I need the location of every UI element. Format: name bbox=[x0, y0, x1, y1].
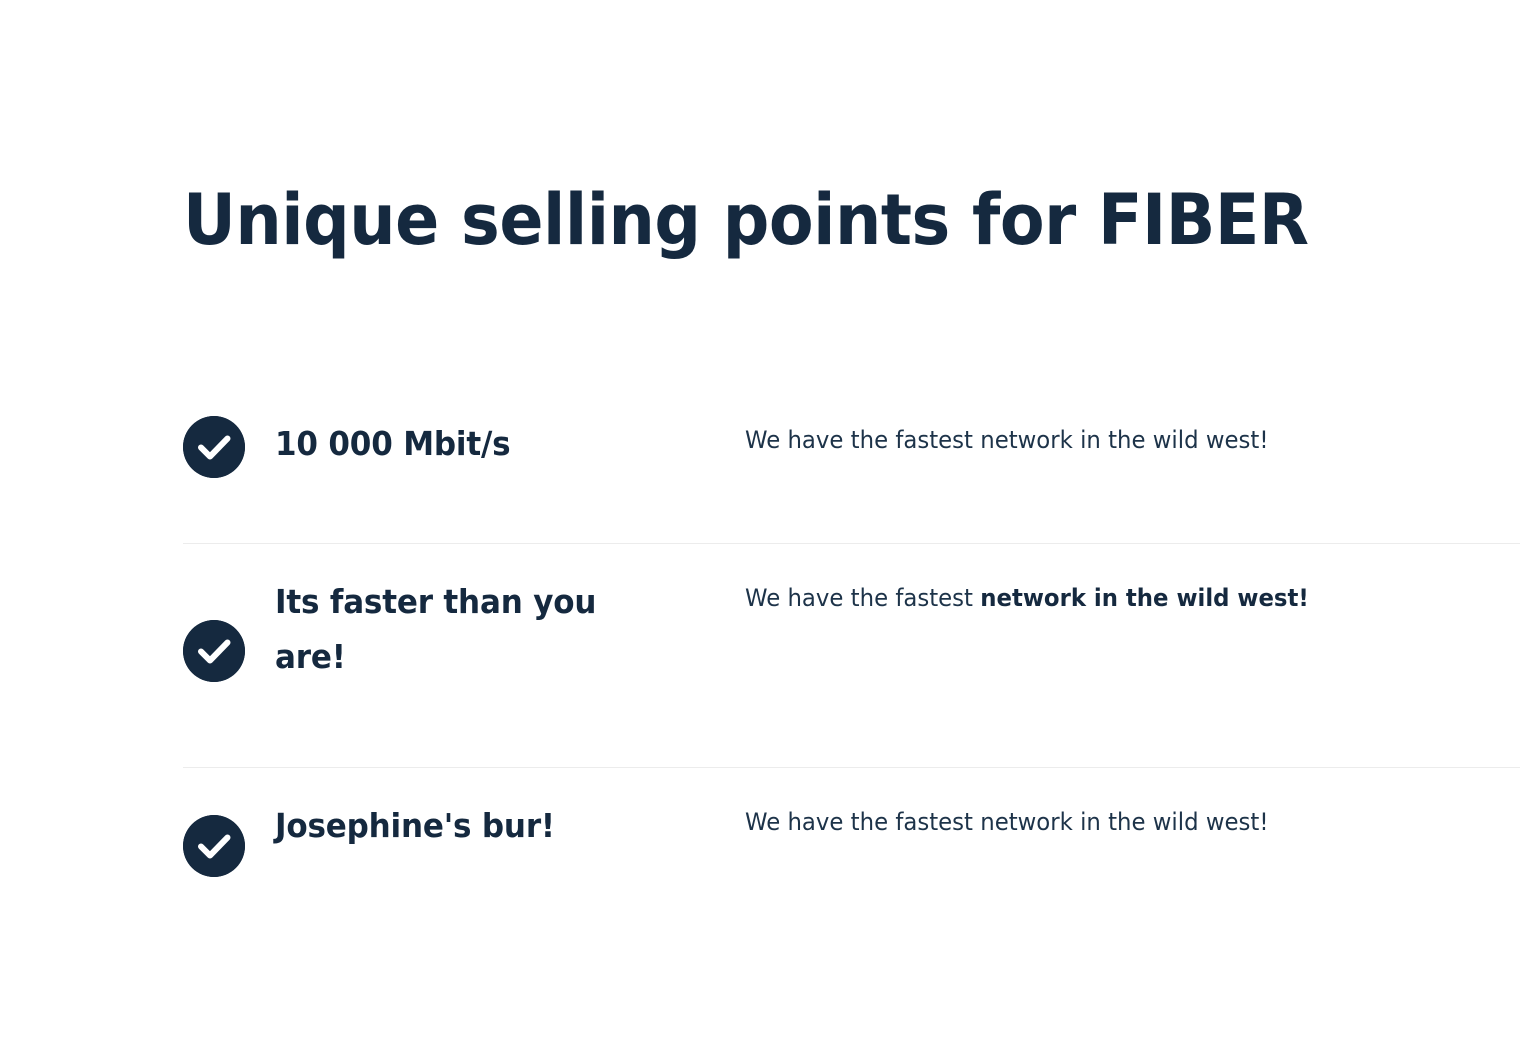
usp-title-cell: Josephine's bur! bbox=[275, 798, 745, 853]
usp-description-cell: We have the fastest network in the wild … bbox=[745, 574, 1520, 615]
usp-icon-cell bbox=[183, 574, 275, 737]
description-plain-text: We have the fastest network in the wild … bbox=[745, 426, 1268, 454]
check-circle-icon bbox=[183, 416, 245, 478]
usp-page: Unique selling points for FIBER 10 000 M… bbox=[0, 0, 1533, 1040]
description-plain-text: We have the fastest network in the wild … bbox=[745, 808, 1268, 836]
usp-icon-cell bbox=[183, 416, 275, 513]
page-title: Unique selling points for FIBER bbox=[183, 178, 1309, 262]
usp-description-cell: We have the fastest network in the wild … bbox=[745, 416, 1520, 457]
description-plain-text: We have the fastest bbox=[745, 584, 980, 612]
list-item-title: Its faster than you are! bbox=[275, 574, 628, 684]
usp-description-cell: We have the fastest network in the wild … bbox=[745, 798, 1520, 839]
list-item: Josephine's bur! We have the fastest net… bbox=[183, 768, 1520, 928]
usp-title-cell: Its faster than you are! bbox=[275, 574, 745, 684]
usp-title-cell: 10 000 Mbit/s bbox=[275, 416, 745, 471]
list-item-description: We have the fastest network in the wild … bbox=[745, 423, 1481, 457]
usp-icon-cell bbox=[183, 798, 275, 898]
list-item-description: We have the fastest network in the wild … bbox=[745, 805, 1481, 839]
check-circle-icon bbox=[183, 620, 245, 682]
description-bold-text: network in the wild west! bbox=[980, 584, 1309, 612]
list-item-description: We have the fastest network in the wild … bbox=[745, 581, 1481, 615]
check-circle-icon bbox=[183, 815, 245, 877]
list-item-title: Josephine's bur! bbox=[275, 798, 698, 853]
usp-list: 10 000 Mbit/s We have the fastest networ… bbox=[183, 386, 1520, 928]
list-item: Its faster than you are! We have the fas… bbox=[183, 544, 1520, 768]
list-item: 10 000 Mbit/s We have the fastest networ… bbox=[183, 386, 1520, 544]
list-item-title: 10 000 Mbit/s bbox=[275, 416, 698, 471]
